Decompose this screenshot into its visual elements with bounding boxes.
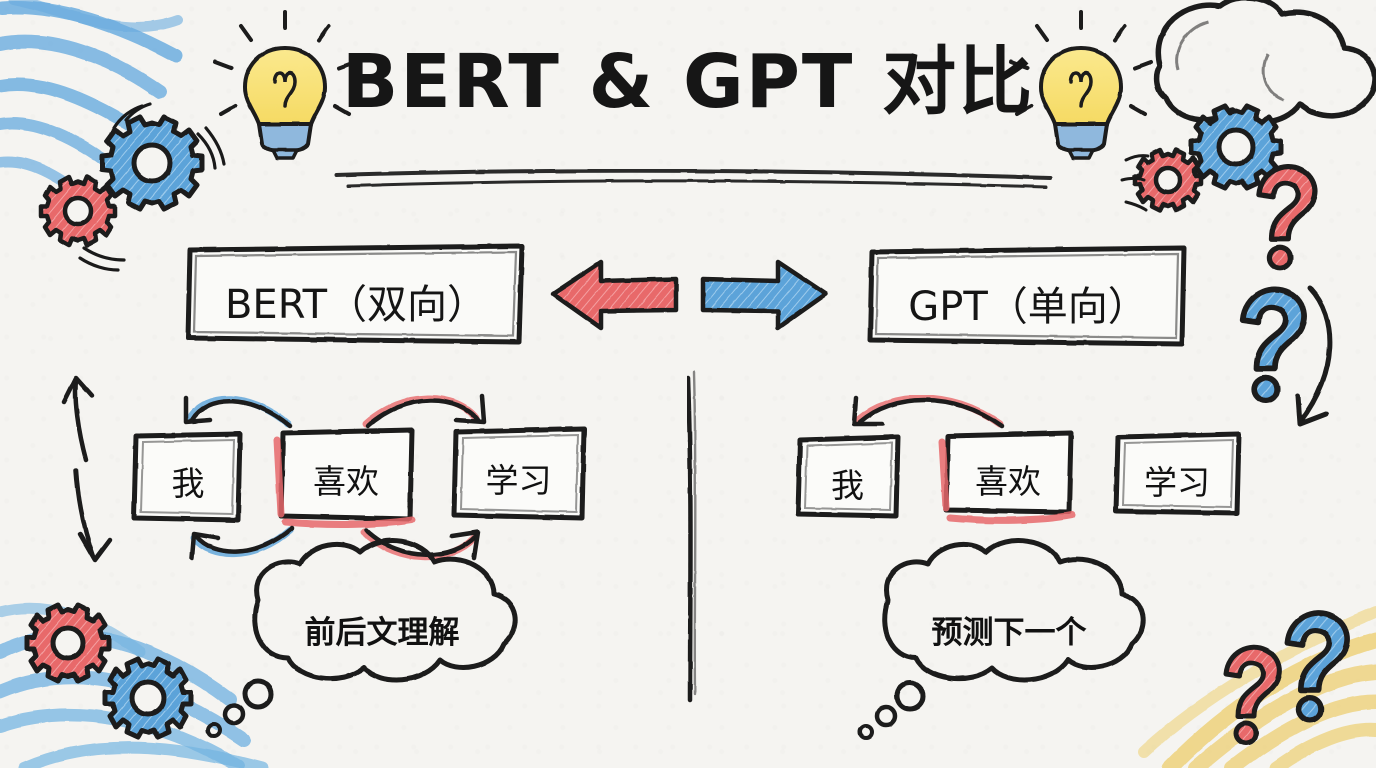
bubble-text-left: 前后文理解 [258,607,506,652]
token-label: 我 [136,457,240,505]
attention-arrow-bottom-left-blue [192,528,292,558]
token-label: 学习 [1116,456,1238,504]
attention-arrow-top-left-blue [186,398,290,426]
attention-arrow-top-right-red [366,396,484,426]
right-arrow-blue [703,262,826,328]
bubble-text-right: 预测下一个 [888,607,1130,652]
token-label: 学习 [454,454,583,502]
token-label: 喜欢 [946,455,1070,503]
token-label: 喜欢 [281,455,411,503]
token-label: 我 [798,459,897,507]
left-arrow-red [553,262,676,328]
whiteboard-canvas: BERT & GPT 对比 [0,0,1376,768]
gpt-model-label: GPT（单向） [872,274,1184,332]
diagram-graphics [0,0,1376,768]
attention-arrow-top-left-red [854,398,1002,426]
vertical-divider [688,372,695,700]
vertical-double-arrow [64,378,110,560]
bert-model-label: BERT（双向） [190,272,522,330]
